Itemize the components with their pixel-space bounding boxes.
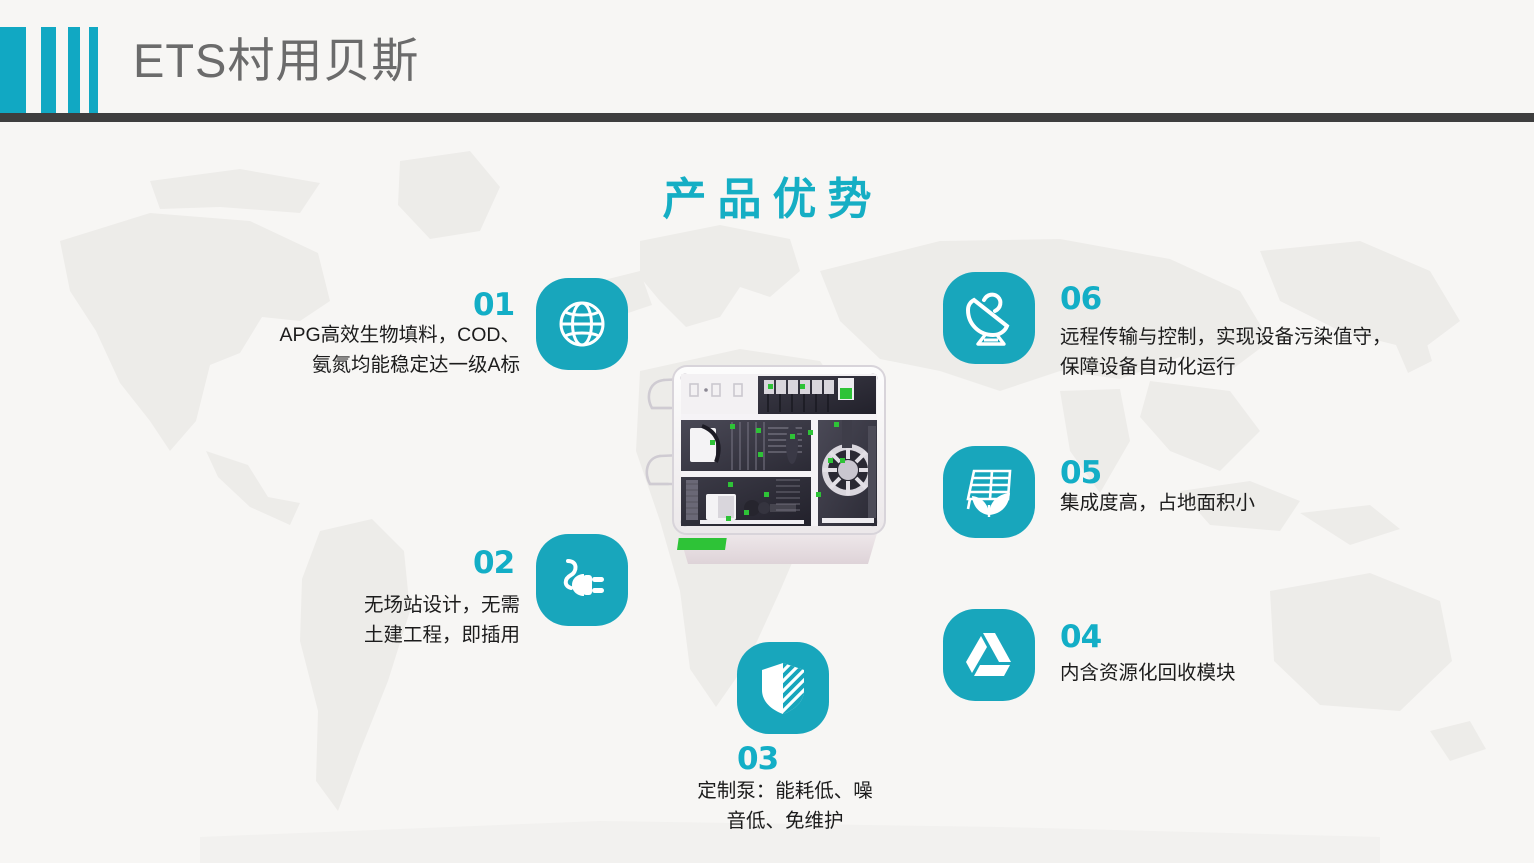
page-title: 产品优势: [0, 163, 1534, 227]
header-divider: [0, 113, 1534, 122]
feature-number-05: 05: [1060, 458, 1101, 489]
feature-text-03: 定制泵：能耗低、噪 音低、免维护: [650, 776, 920, 836]
feature-text-01: APG高效生物填料，COD、 氨氮均能稳定达一级A标: [205, 320, 520, 380]
feature-text-06: 远程传输与控制，实现设备污染值守， 保障设备自动化运行: [1060, 322, 1480, 382]
feature-text-02: 无场站设计，无需 土建工程，即插用: [230, 590, 520, 650]
solar-panel-leaf-icon: [960, 465, 1018, 519]
feature-text-04: 内含资源化回收模块: [1060, 658, 1380, 688]
accent-bar-2: [41, 27, 56, 113]
feature-number-04: 04: [1060, 622, 1101, 653]
recycle-triangle-icon: [961, 629, 1017, 681]
satellite-dish-icon: [960, 290, 1018, 346]
feature-icon-badge-04[interactable]: [943, 609, 1035, 701]
accent-bar-1: [0, 27, 26, 113]
feature-icon-badge-05[interactable]: [943, 446, 1035, 538]
slide-header: ETS村用贝斯: [0, 0, 1534, 121]
accent-bar-3: [68, 27, 80, 113]
feature-text-05: 集成度高，占地面积小: [1060, 488, 1390, 518]
feature-number-06: 06: [1060, 284, 1101, 315]
shield-icon: [758, 660, 808, 716]
feature-icon-badge-02[interactable]: [536, 534, 628, 626]
feature-number-03: 03: [737, 744, 778, 775]
product-image: [640, 358, 895, 583]
header-title: ETS村用贝斯: [133, 30, 419, 92]
power-plug-icon: [554, 552, 610, 608]
feature-number-02: 02: [473, 548, 514, 579]
globe-icon: [555, 297, 609, 351]
feature-icon-badge-03[interactable]: [737, 642, 829, 734]
accent-bar-4: [89, 27, 98, 113]
feature-icon-badge-06[interactable]: [943, 272, 1035, 364]
feature-icon-badge-01[interactable]: [536, 278, 628, 370]
feature-number-01: 01: [473, 290, 514, 321]
